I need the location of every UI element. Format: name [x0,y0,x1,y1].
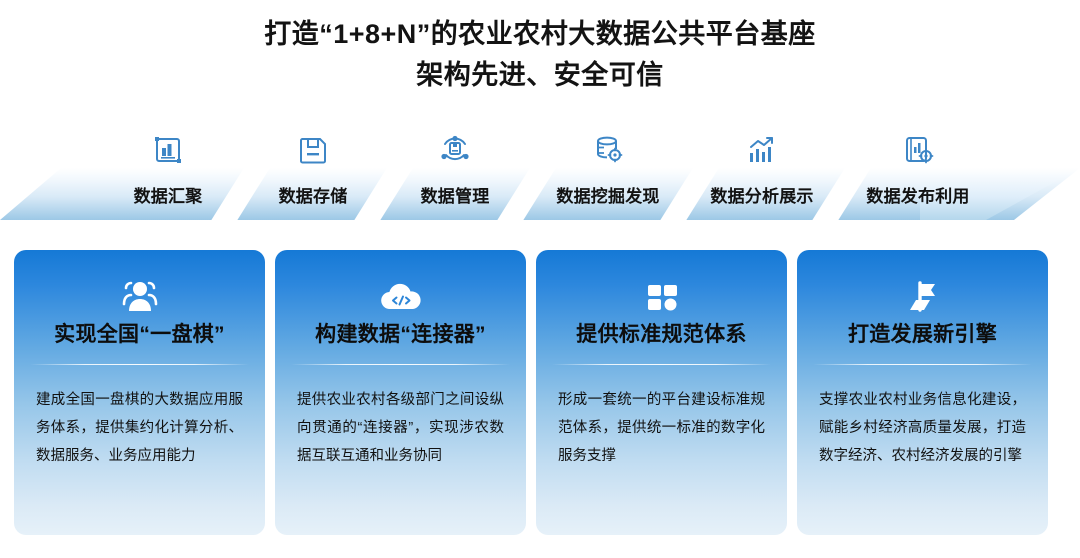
banner-item-label: 数据汇聚 [134,182,203,207]
cloud-code-icon [275,280,526,314]
page-title-line-2: 架构先进、安全可信 [0,55,1080,96]
card-divider [813,364,1032,365]
feature-card-description: 提供农业农村各级部门之间设纵向贯通的“连接器”，实现涉农数据互联互通和业务协同 [297,386,504,470]
feature-card-standard-system[interactable]: 提供标准规范体系 形成一套统一的平台建设标准规范体系，提供统一标准的数字化服务支… [536,250,787,535]
feature-card-national-strategy[interactable]: 实现全国“一盘棋” 建成全国一盘棋的大数据应用服务体系，提供集约化计算分析、数据… [14,250,265,535]
feature-card-title: 实现全国“一盘棋” [14,318,265,348]
floppy-disk-icon [296,134,330,166]
users-icon [14,280,265,314]
page-title-line-1: 打造“1+8+N”的农业农村大数据公共平台基座 [0,14,1080,55]
banner-item-label: 数据发布利用 [866,182,969,207]
page-title: 打造“1+8+N”的农业农村大数据公共平台基座 架构先进、安全可信 [0,14,1080,96]
feature-card-data-connector[interactable]: 构建数据“连接器” 提供农业农村各级部门之间设纵向贯通的“连接器”，实现涉农数据… [275,250,526,535]
banner-item-list: 数据汇聚 数据存储 [0,168,1080,220]
banner-item-data-management[interactable]: 数据管理 [385,168,525,220]
feature-card-list: 实现全国“一盘棋” 建成全国一盘棋的大数据应用服务体系，提供集约化计算分析、数据… [0,250,1080,540]
banner-item-label: 数据分析展示 [710,182,813,207]
banner-item-data-storage[interactable]: 数据存储 [243,168,383,220]
card-divider [552,364,771,365]
banner-item-data-aggregation[interactable]: 数据汇聚 [98,168,238,220]
feature-card-description: 建成全国一盘棋的大数据应用服务体系，提供集约化计算分析、数据服务、业务应用能力 [36,386,243,470]
banner-item-label: 数据挖掘发现 [556,182,659,207]
blocks-icon [536,280,787,314]
database-network-icon [438,134,472,166]
database-gear-icon [591,134,625,166]
process-banner: 数据汇聚 数据存储 [0,168,1080,220]
banner-item-label: 数据存储 [279,182,348,207]
report-gear-icon [901,134,935,166]
feature-card-new-engine[interactable]: 打造发展新引擎 支撑农业农村业务信息化建设，赋能乡村经济高质量发展，打造数字经济… [797,250,1048,535]
flag-icon [797,280,1048,314]
feature-card-title: 提供标准规范体系 [536,318,787,348]
card-divider [30,364,249,365]
banner-item-data-mining[interactable]: 数据挖掘发现 [528,168,688,220]
feature-card-title: 打造发展新引擎 [797,318,1048,348]
feature-card-description: 形成一套统一的平台建设标准规范体系，提供统一标准的数字化服务支撑 [558,386,765,470]
banner-item-data-analysis[interactable]: 数据分析展示 [682,168,842,220]
feature-card-title: 构建数据“连接器” [275,318,526,348]
bar-chart-frame-icon [151,134,185,166]
card-divider [291,364,510,365]
trend-chart-icon [745,134,779,166]
banner-item-label: 数据管理 [421,182,490,207]
banner-item-data-publish[interactable]: 数据发布利用 [838,168,998,220]
feature-card-description: 支撑农业农村业务信息化建设，赋能乡村经济高质量发展，打造数字经济、农村经济发展的… [819,386,1026,470]
